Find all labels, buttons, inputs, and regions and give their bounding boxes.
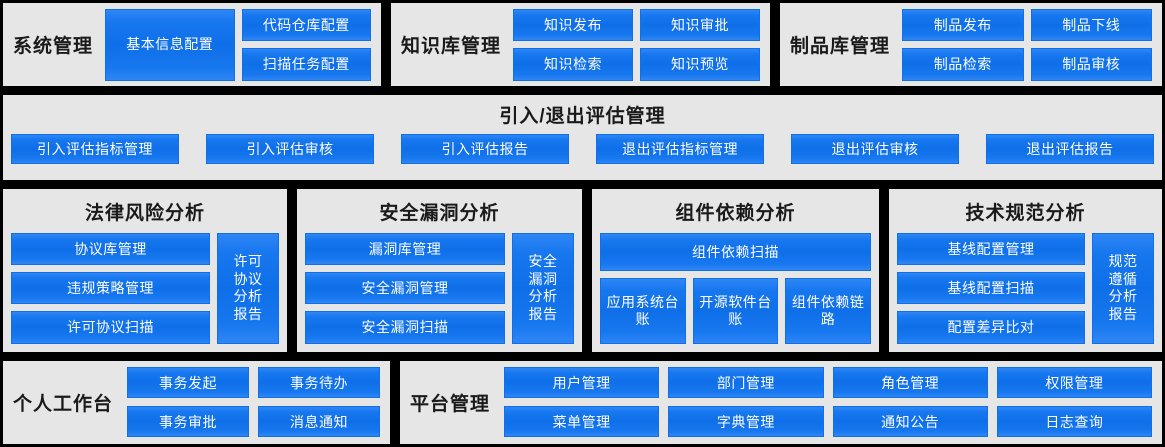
button-license-library-management[interactable]: 协议库管理 — [11, 233, 210, 265]
button-introduce-assessment-indicator-management[interactable]: 引入评估指标管理 — [11, 134, 179, 164]
button-grid: 基线配置管理 基线配置扫描 配置差异比对 规范遵循分析报告 — [897, 233, 1154, 344]
panel-title: 系统管理 — [13, 31, 93, 58]
button-department-management[interactable]: 部门管理 — [668, 367, 823, 398]
panel-title: 安全漏洞分析 — [305, 193, 574, 233]
button-grid: 组件依赖扫描 应用系统台账 开源软件台账 组件依赖链路 — [600, 233, 871, 344]
button-label: 规范遵循分析报告 — [1106, 253, 1140, 324]
button-task-todo[interactable]: 事务待办 — [258, 367, 380, 398]
button-grid: 协议库管理 违规策略管理 许可协议扫描 许可协议分析报告 — [11, 233, 279, 344]
button-scan-task-config[interactable]: 扫描任务配置 — [242, 48, 372, 81]
button-column: 事务待办 消息通知 — [258, 367, 380, 437]
panel-title: 组件依赖分析 — [600, 193, 871, 233]
panel-system-management: 系统管理 基本信息配置 代码仓库配置 扫描任务配置 — [0, 0, 384, 89]
button-column: 制品发布 制品检索 — [902, 9, 1024, 81]
button-introduce-assessment-review[interactable]: 引入评估审核 — [206, 134, 374, 164]
button-log-query[interactable]: 日志查询 — [997, 406, 1152, 437]
panel-title: 制品库管理 — [790, 31, 890, 58]
button-artifact-offline[interactable]: 制品下线 — [1031, 9, 1153, 42]
analysis-section-row: 法律风险分析 协议库管理 违规策略管理 许可协议扫描 许可协议分析报告 安全漏洞… — [0, 186, 1165, 355]
button-column: 代码仓库配置 扫描任务配置 — [242, 9, 372, 81]
button-license-analysis-report[interactable]: 许可协议分析报告 — [217, 233, 279, 344]
button-baseline-config-scan[interactable]: 基线配置扫描 — [897, 272, 1085, 304]
assessment-section-row: 引入/退出评估管理 引入评估指标管理 引入评估审核 引入评估报告 退出评估指标管… — [0, 92, 1165, 182]
button-vulnerability-library-management[interactable]: 漏洞库管理 — [305, 233, 505, 265]
button-column: 知识发布 知识检索 — [513, 9, 633, 81]
button-column: 基线配置管理 基线配置扫描 配置差异比对 — [897, 233, 1085, 344]
button-dictionary-management[interactable]: 字典管理 — [668, 406, 823, 437]
panel-title: 引入/退出评估管理 — [11, 99, 1154, 128]
panel-artifact-repo-management: 制品库管理 制品发布 制品检索 制品下线 制品审核 — [777, 0, 1165, 89]
platform-function-map: 系统管理 基本信息配置 代码仓库配置 扫描任务配置 知识库管理 知识发布 知识检… — [0, 0, 1165, 447]
panel-introduce-exit-assessment: 引入/退出评估管理 引入评估指标管理 引入评估审核 引入评估报告 退出评估指标管… — [0, 92, 1165, 182]
button-column: 角色管理 通知公告 — [833, 367, 988, 437]
button-grid: 知识发布 知识检索 知识审批 知识预览 — [513, 9, 760, 81]
button-security-vulnerability-analysis-report[interactable]: 安全漏洞分析报告 — [512, 233, 574, 344]
button-permission-management[interactable]: 权限管理 — [997, 367, 1152, 398]
button-license-agreement-scan[interactable]: 许可协议扫描 — [11, 311, 210, 343]
button-grid: 事务发起 事务审批 事务待办 消息通知 — [127, 367, 380, 437]
button-knowledge-preview[interactable]: 知识预览 — [640, 48, 760, 81]
button-knowledge-search[interactable]: 知识检索 — [513, 48, 633, 81]
button-grid: 用户管理 菜单管理 部门管理 字典管理 角色管理 通知公告 权限管理 日志查询 — [504, 367, 1152, 437]
panel-security-vulnerability-analysis: 安全漏洞分析 漏洞库管理 安全漏洞管理 安全漏洞扫描 安全漏洞分析报告 — [294, 186, 585, 355]
button-column: 协议库管理 违规策略管理 许可协议扫描 — [11, 233, 210, 344]
button-introduce-assessment-report[interactable]: 引入评估报告 — [401, 134, 569, 164]
button-grid: 引入评估指标管理 引入评估审核 引入评估报告 退出评估指标管理 退出评估审核 退… — [11, 128, 1154, 171]
button-column: 事务发起 事务审批 — [127, 367, 249, 437]
button-task-approval[interactable]: 事务审批 — [127, 406, 249, 437]
panel-platform-management: 平台管理 用户管理 菜单管理 部门管理 字典管理 角色管理 通知公告 权限管理 … — [397, 358, 1165, 447]
button-knowledge-approval[interactable]: 知识审批 — [640, 9, 760, 42]
button-security-vulnerability-scan[interactable]: 安全漏洞扫描 — [305, 311, 505, 343]
button-artifact-audit[interactable]: 制品审核 — [1031, 48, 1153, 81]
button-message-notification[interactable]: 消息通知 — [258, 406, 380, 437]
button-column: 漏洞库管理 安全漏洞管理 安全漏洞扫描 — [305, 233, 505, 344]
button-menu-management[interactable]: 菜单管理 — [504, 406, 659, 437]
button-artifact-publish[interactable]: 制品发布 — [902, 9, 1024, 42]
button-application-system-ledger[interactable]: 应用系统台账 — [600, 278, 686, 344]
button-baseline-config-management[interactable]: 基线配置管理 — [897, 233, 1085, 265]
button-component-dependency-scan[interactable]: 组件依赖扫描 — [600, 233, 871, 271]
button-label: 安全漏洞分析报告 — [526, 253, 560, 324]
panel-title: 技术规范分析 — [897, 193, 1154, 233]
panel-title: 平台管理 — [410, 389, 490, 416]
button-violation-policy-management[interactable]: 违规策略管理 — [11, 272, 210, 304]
button-column: 知识审批 知识预览 — [640, 9, 760, 81]
button-task-initiate[interactable]: 事务发起 — [127, 367, 249, 398]
panel-title: 知识库管理 — [401, 31, 501, 58]
panel-component-dependency-analysis: 组件依赖分析 组件依赖扫描 应用系统台账 开源软件台账 组件依赖链路 — [589, 186, 882, 355]
button-grid: 制品发布 制品检索 制品下线 制品审核 — [902, 9, 1152, 81]
button-column: 用户管理 菜单管理 — [504, 367, 659, 437]
button-exit-assessment-indicator-management[interactable]: 退出评估指标管理 — [596, 134, 764, 164]
button-label: 许可协议分析报告 — [231, 253, 265, 324]
panel-legal-risk-analysis: 法律风险分析 协议库管理 违规策略管理 许可协议扫描 许可协议分析报告 — [0, 186, 290, 355]
button-artifact-search[interactable]: 制品检索 — [902, 48, 1024, 81]
button-exit-assessment-report[interactable]: 退出评估报告 — [986, 134, 1154, 164]
button-role-management[interactable]: 角色管理 — [833, 367, 988, 398]
button-standard-compliance-analysis-report[interactable]: 规范遵循分析报告 — [1092, 233, 1154, 344]
panel-title: 法律风险分析 — [11, 193, 279, 233]
button-notice-announcement[interactable]: 通知公告 — [833, 406, 988, 437]
panel-technical-standard-analysis: 技术规范分析 基线配置管理 基线配置扫描 配置差异比对 规范遵循分析报告 — [886, 186, 1165, 355]
top-section-row: 系统管理 基本信息配置 代码仓库配置 扫描任务配置 知识库管理 知识发布 知识检… — [0, 0, 1165, 89]
button-column: 制品下线 制品审核 — [1031, 9, 1153, 81]
button-open-source-software-ledger[interactable]: 开源软件台账 — [693, 278, 779, 344]
button-column: 部门管理 字典管理 — [668, 367, 823, 437]
panel-personal-workbench: 个人工作台 事务发起 事务审批 事务待办 消息通知 — [0, 358, 393, 447]
button-code-repo-config[interactable]: 代码仓库配置 — [242, 9, 372, 42]
button-grid: 漏洞库管理 安全漏洞管理 安全漏洞扫描 安全漏洞分析报告 — [305, 233, 574, 344]
panel-knowledge-base-management: 知识库管理 知识发布 知识检索 知识审批 知识预览 — [388, 0, 773, 89]
bottom-section-row: 个人工作台 事务发起 事务审批 事务待办 消息通知 平台管理 用户管理 菜单管理 — [0, 358, 1165, 447]
button-row: 应用系统台账 开源软件台账 组件依赖链路 — [600, 278, 871, 344]
button-security-vulnerability-management[interactable]: 安全漏洞管理 — [305, 272, 505, 304]
button-column: 基本信息配置 — [105, 9, 235, 81]
button-exit-assessment-review[interactable]: 退出评估审核 — [791, 134, 959, 164]
button-config-difference-comparison[interactable]: 配置差异比对 — [897, 311, 1085, 343]
button-grid: 基本信息配置 代码仓库配置 扫描任务配置 — [105, 9, 371, 81]
button-user-management[interactable]: 用户管理 — [504, 367, 659, 398]
button-component-dependency-chain[interactable]: 组件依赖链路 — [785, 278, 871, 344]
button-column: 权限管理 日志查询 — [997, 367, 1152, 437]
button-knowledge-publish[interactable]: 知识发布 — [513, 9, 633, 42]
button-basic-info-config[interactable]: 基本信息配置 — [105, 9, 235, 81]
panel-title: 个人工作台 — [13, 389, 113, 416]
